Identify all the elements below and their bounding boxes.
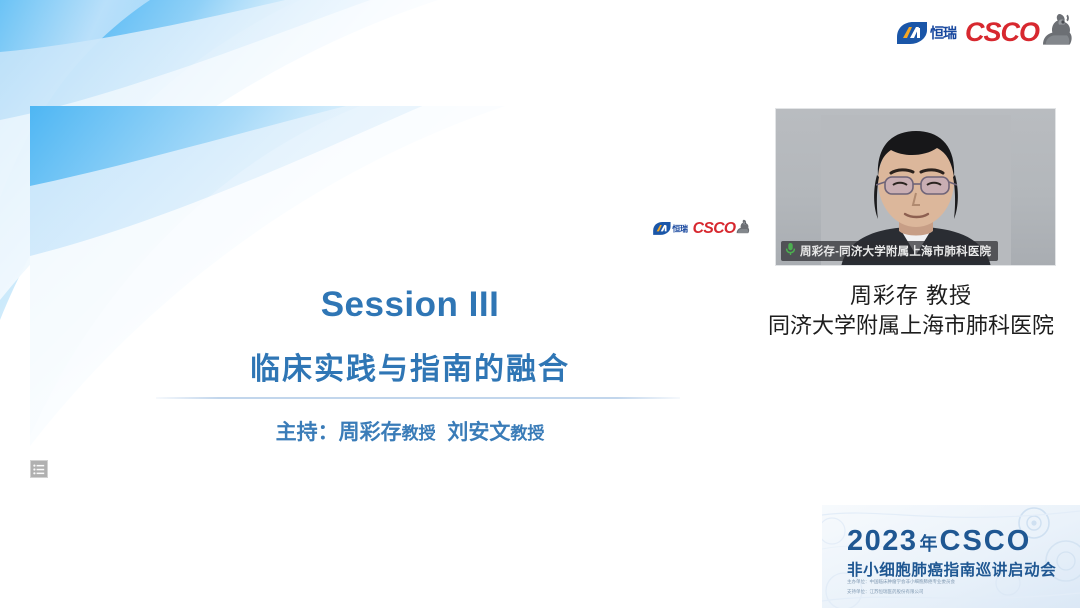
banner-title: 非小细胞肺癌指南巡讲启动会 — [847, 558, 1056, 580]
hengrui-logo-icon — [652, 221, 672, 236]
banner-org: CSCO — [940, 525, 1032, 558]
participant-name-text: 周彩存-同济大学附属上海市肺科医院 — [800, 243, 991, 259]
slide-divider — [156, 397, 680, 399]
host2-name: 刘安文 — [447, 421, 510, 444]
hengrui-logo-text: 恒瑞 — [930, 23, 956, 43]
slide-logo-lockup: 恒瑞 CSCO — [652, 218, 751, 238]
host2-title: 教授 — [510, 424, 544, 443]
presentation-stage: 恒瑞 CSCO Session III 临床实践与指南的融合 主持：周彩存教授 … — [0, 0, 1080, 608]
speaker-caption: 周彩存 教授 同济大学附属上海市肺科医院 — [742, 281, 1080, 341]
hengrui-logo-icon — [895, 20, 929, 46]
csco-lion-icon — [1035, 10, 1075, 55]
speaker-name: 周彩存 教授 — [742, 281, 1080, 311]
video-tile[interactable]: 周彩存-同济大学附属上海市肺科医院 — [775, 108, 1056, 266]
session-subtitle: 临床实践与指南的融合 — [30, 344, 790, 388]
csco-logo-text: CSCO — [693, 219, 736, 237]
csco-logo-text: CSCO — [965, 17, 1039, 48]
participant-name-badge: 周彩存-同济大学附属上海市肺科医院 — [781, 241, 998, 261]
host1-name: 周彩存 — [339, 421, 402, 444]
banner-year-suffix: 年 — [920, 530, 938, 556]
host1-title: 教授 — [402, 424, 436, 443]
csco-lion-icon — [733, 218, 750, 238]
header-logo-lockup: 恒瑞 CSCO — [895, 10, 1075, 55]
hengrui-logo-text: 恒瑞 — [672, 222, 687, 234]
hengrui-logo: 恒瑞 — [895, 20, 956, 46]
banner-organizer-line1: 主办单位：中国临床肿瘤学会非小细胞肺癌专业委员会 — [847, 579, 955, 585]
host-prefix: 主持： — [276, 421, 339, 444]
banner-organizer-line2: 支持单位：江苏恒瑞医药股份有限公司 — [847, 589, 924, 595]
speaker-affiliation: 同济大学附属上海市肺科医院 — [742, 311, 1080, 341]
event-banner: 2023 年 CSCO 非小细胞肺癌指南巡讲启动会 主办单位：中国临床肿瘤学会非… — [822, 505, 1080, 608]
banner-year: 2023 — [847, 525, 918, 558]
microphone-icon — [785, 242, 796, 261]
list-icon[interactable] — [30, 460, 48, 478]
session-title: Session III — [30, 285, 790, 325]
hengrui-logo: 恒瑞 — [652, 221, 687, 236]
host-line: 主持：周彩存教授 刘安文教授 — [30, 416, 790, 446]
